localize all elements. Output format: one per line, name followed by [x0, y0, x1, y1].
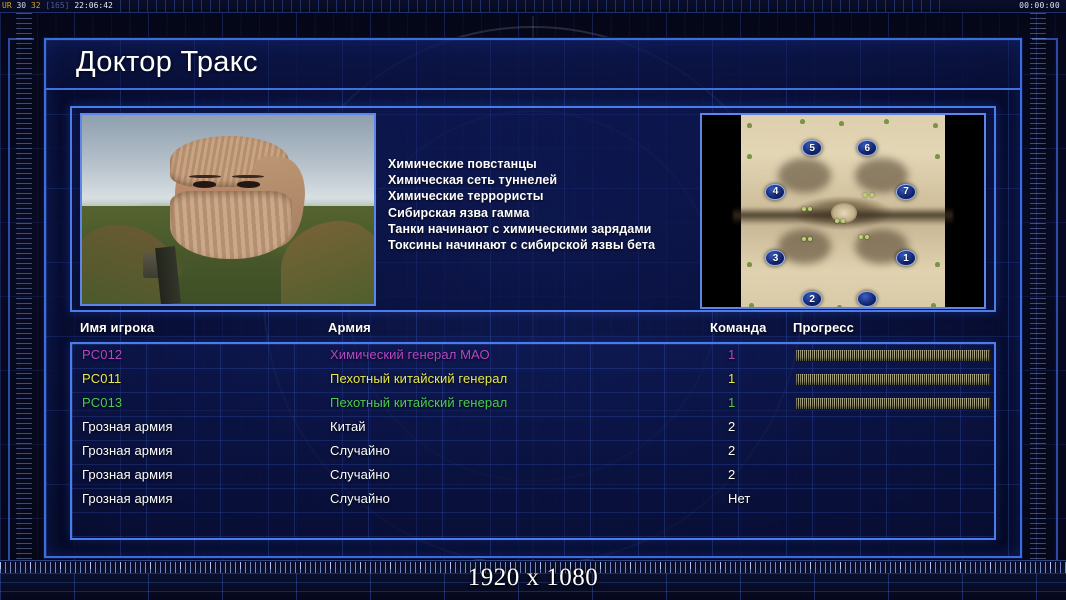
map-start-position[interactable]: 6 [857, 140, 877, 156]
table-row[interactable]: Грозная армияСлучайноНет [72, 488, 994, 512]
cell-progress-bar [795, 373, 991, 386]
cell-player-name: Грозная армия [82, 419, 173, 434]
player-table: PC012Химический генерал МАО1PC011Пехотны… [70, 342, 996, 540]
status-prefix: UR [2, 1, 12, 10]
table-row[interactable]: Грозная армияСлучайно2 [72, 440, 994, 464]
cell-team[interactable]: 2 [728, 419, 735, 434]
general-portrait [80, 113, 376, 306]
header-team: Команда [710, 320, 766, 335]
header-progress: Прогресс [793, 320, 854, 335]
cell-player-name: Грозная армия [82, 491, 173, 506]
general-description: Химические повстанцы Химическая сеть тун… [388, 156, 718, 253]
top-left-status: UR 30 32 [165] 22:06:42 [2, 1, 113, 10]
portrait-eye-left [193, 181, 216, 187]
cell-army[interactable]: Китай [330, 419, 366, 434]
table-row[interactable]: Грозная армияСлучайно2 [72, 464, 994, 488]
cell-army[interactable]: Случайно [330, 467, 390, 482]
status-bracket: [165] [45, 1, 69, 10]
map-start-position[interactable]: 7 [896, 184, 916, 200]
cell-team[interactable]: 2 [728, 467, 735, 482]
description-line: Танки начинают с химическими зарядами [388, 221, 718, 237]
window-content: Химические повстанцы Химическая сеть тун… [70, 106, 996, 540]
map-resource-marker [863, 193, 867, 197]
cell-team[interactable]: 1 [728, 395, 735, 410]
header-army: Армия [328, 320, 371, 335]
cell-team[interactable]: 1 [728, 371, 735, 386]
map-start-position[interactable]: 3 [765, 250, 785, 266]
map-terrain-blotch [778, 229, 831, 264]
cell-player-name: PC011 [82, 371, 121, 386]
cell-army[interactable]: Химический генерал МАО [330, 347, 490, 362]
map-tree-marker [747, 123, 752, 128]
map-resource-marker [870, 193, 874, 197]
map-tree-marker [800, 119, 805, 124]
top-status-bar: UR 30 32 [165] 22:06:42 00:00:00 [0, 0, 1066, 13]
cell-progress-bar [795, 397, 991, 410]
map-resource-marker [808, 237, 812, 241]
map-tree-marker [837, 305, 842, 309]
resolution-label: 1920 x 1080 [0, 564, 1066, 592]
map-resource-marker [835, 219, 839, 223]
cell-army[interactable]: Пехотный китайский генерал [330, 395, 507, 410]
status-value-2: 32 [31, 1, 41, 10]
table-row[interactable]: PC011Пехотный китайский генерал1 [72, 368, 994, 392]
minimap-terrain[interactable]: 5647312 [741, 115, 945, 309]
map-tree-marker [747, 262, 752, 267]
page-title: Доктор Тракс [76, 46, 258, 79]
description-line: Химическая сеть туннелей [388, 172, 718, 188]
status-value-1: 30 [16, 1, 26, 10]
header-player-name: Имя игрока [80, 320, 154, 335]
main-window: Доктор Тракс [44, 38, 1022, 558]
map-resource-marker [841, 219, 845, 223]
table-row[interactable]: PC012Химический генерал МАО1 [72, 344, 994, 368]
map-start-position[interactable]: 1 [896, 250, 916, 266]
description-line: Химические повстанцы [388, 156, 718, 172]
right-ruler-ticks [1030, 13, 1046, 572]
window-title-bar: Доктор Тракс [46, 40, 1020, 90]
cell-army[interactable]: Случайно [330, 491, 390, 506]
portrait-face-mask [170, 191, 293, 259]
cell-army[interactable]: Случайно [330, 443, 390, 458]
table-row[interactable]: Грозная армияКитай2 [72, 416, 994, 440]
map-start-position[interactable]: 4 [765, 184, 785, 200]
map-tree-marker [933, 123, 938, 128]
player-table-header: Имя игрока Армия Команда Прогресс [70, 320, 996, 342]
map-tree-marker [931, 303, 936, 308]
map-tree-marker [747, 154, 752, 159]
cell-team[interactable]: 2 [728, 443, 735, 458]
cell-player-name: Грозная армия [82, 443, 173, 458]
map-tree-marker [884, 119, 889, 124]
map-start-position[interactable]: 5 [802, 140, 822, 156]
portrait-eye-right [237, 181, 260, 187]
map-tree-marker [935, 154, 940, 159]
cell-player-name: Грозная армия [82, 467, 173, 482]
match-timer: 00:00:00 [1019, 1, 1060, 10]
map-resource-marker [802, 237, 806, 241]
cell-army[interactable]: Пехотный китайский генерал [330, 371, 507, 386]
description-line: Химические террористы [388, 188, 718, 204]
cell-team[interactable]: Нет [728, 491, 750, 506]
briefing-panel: Химические повстанцы Химическая сеть тун… [70, 106, 996, 312]
map-tree-marker [839, 121, 844, 126]
top-bar-ticks [120, 0, 946, 12]
map-preview[interactable]: 5647312 [700, 113, 986, 309]
left-ruler-ticks [16, 13, 32, 572]
map-start-position[interactable] [857, 291, 877, 307]
map-start-position[interactable]: 2 [802, 291, 822, 307]
map-terrain-blotch [778, 158, 831, 193]
table-row[interactable]: PC013Пехотный китайский генерал1 [72, 392, 994, 416]
status-clock: 22:06:42 [74, 1, 113, 10]
map-tree-marker [935, 262, 940, 267]
cell-progress-bar [795, 349, 991, 362]
cell-player-name: PC012 [82, 347, 122, 362]
cell-team[interactable]: 1 [728, 347, 735, 362]
map-resource-marker [859, 235, 863, 239]
description-line: Токсины начинают с сибирской язвы бета [388, 237, 718, 253]
cell-player-name: PC013 [82, 395, 122, 410]
description-line: Сибирская язва гамма [388, 205, 718, 221]
game-screen: UR 30 32 [165] 22:06:42 00:00:00 Доктор … [0, 0, 1066, 600]
map-tree-marker [749, 303, 754, 308]
